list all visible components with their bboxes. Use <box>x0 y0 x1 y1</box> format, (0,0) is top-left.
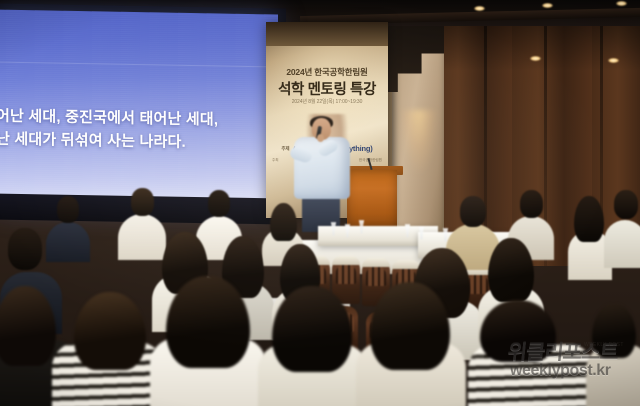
watermark-tagline: WEEKLY POST <box>584 342 624 348</box>
weeklypost-watermark: 위클리포스트 WEEKLY POST weeklypost.kr <box>508 336 636 394</box>
audience-hair <box>74 292 146 370</box>
audience-torso <box>604 220 640 268</box>
audience-member <box>150 276 266 406</box>
audience-hair <box>488 238 534 302</box>
audience-head <box>8 228 42 270</box>
speaker-hand <box>317 134 324 142</box>
slide-text-block: 태어난 세대, 중진국에서 태어난 세대, 어난 세대가 뒤섞여 사는 나라다. <box>0 105 278 156</box>
audience-head <box>57 196 79 223</box>
audience-member-striped <box>52 292 164 406</box>
audience-hair <box>270 203 297 241</box>
ceiling-spotlight <box>608 58 619 63</box>
ceiling-spotlight <box>616 1 627 6</box>
audience-member <box>604 190 640 264</box>
audience-hair <box>0 286 56 366</box>
banner-host-label: 주최 <box>272 158 279 163</box>
banquet-chair-cap <box>332 256 360 265</box>
event-photograph: 태어난 세대, 중진국에서 태어난 세대, 어난 세대가 뒤섞여 사는 나라다.… <box>0 0 640 406</box>
audience-hair <box>370 282 450 370</box>
audience-head <box>131 188 154 216</box>
audience-head <box>460 196 486 227</box>
audience-head <box>208 190 230 217</box>
projection-screen: 태어난 세대, 중진국에서 태어난 세대, 어난 세대가 뒤섞여 사는 나라다. <box>0 10 278 213</box>
watermark-url: weeklypost.kr <box>510 362 638 380</box>
banner-top-shadow <box>266 22 388 46</box>
banner-organization-line: 2024년 한국공학한림원 <box>266 66 388 78</box>
audience-head <box>614 190 638 219</box>
banner-date-line: 2024년 8월 22일(목) 17:00~19:30 <box>266 98 388 105</box>
audience-hair <box>574 196 604 242</box>
audience-head <box>520 190 543 218</box>
banner-title: 석학 멘토링 특강 <box>266 78 388 99</box>
ceiling-spotlight <box>530 56 541 61</box>
wall-sconce-glow <box>398 110 440 230</box>
audience-hair <box>166 276 250 368</box>
ceiling-spotlight <box>542 3 553 8</box>
ceiling-spotlight <box>474 6 485 11</box>
slide-line-2: 어난 세대가 뒤섞여 사는 나라다. <box>0 128 278 156</box>
banquet-chair-cap <box>362 258 390 267</box>
audience-member <box>356 282 466 406</box>
